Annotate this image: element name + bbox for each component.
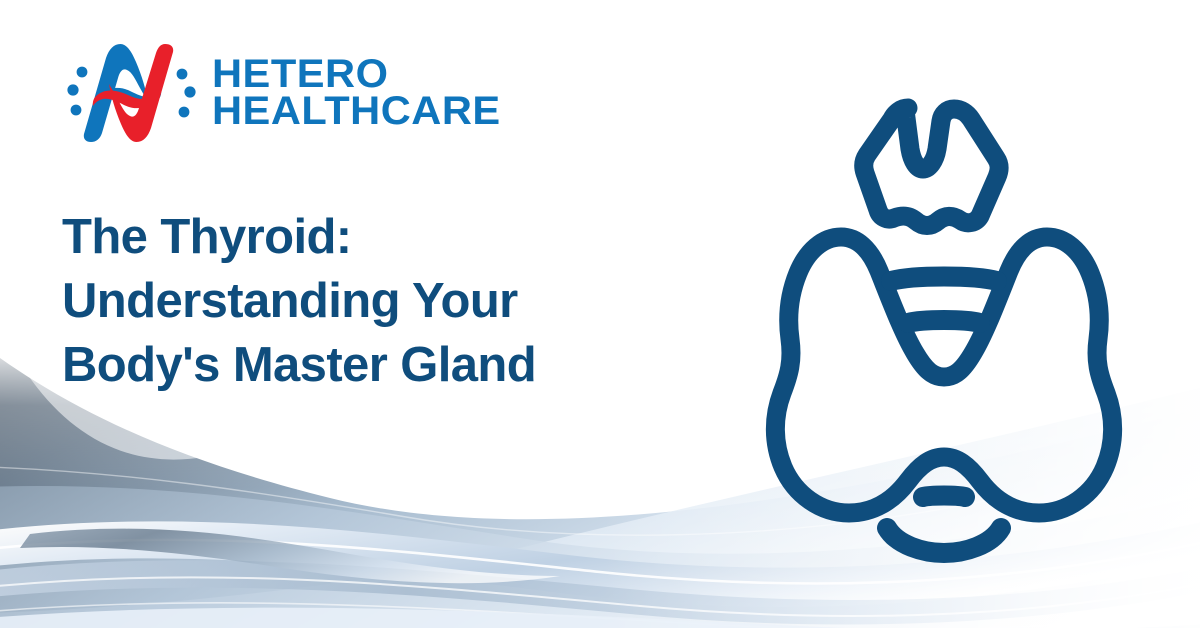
headline-line-1: The Thyroid: [62, 205, 702, 269]
headline-line-3: Body's Master Gland [62, 333, 702, 397]
thyroid-gland-icon [745, 85, 1145, 565]
brand-logo[interactable]: HETERO HEALTHCARE [62, 38, 490, 146]
wordmark-line-healthcare: HEALTHCARE [212, 93, 501, 130]
banner-canvas: HETERO HEALTHCARE The Thyroid: Understan… [0, 0, 1200, 628]
hetero-logo-mark [62, 38, 198, 146]
wave-line-2 [0, 576, 1200, 616]
wave-band-3 [0, 608, 1200, 628]
wave-highlight-2 [0, 560, 1200, 624]
wordmark-line-hetero: HETERO [212, 56, 501, 93]
thyroid-cartilage-outline [864, 108, 999, 226]
wave-crease [20, 529, 560, 584]
tracheal-ring-2 [908, 320, 980, 323]
tracheal-ring-1 [891, 277, 997, 282]
wave-line-3 [0, 603, 1200, 628]
brand-wordmark: HETERO HEALTHCARE [212, 56, 490, 130]
page-title: The Thyroid: Understanding Your Body's M… [62, 205, 702, 397]
tracheal-ring-3 [923, 496, 965, 498]
headline-line-2: Understanding Your [62, 269, 702, 333]
thyroid-isthmus-base [887, 528, 1001, 553]
